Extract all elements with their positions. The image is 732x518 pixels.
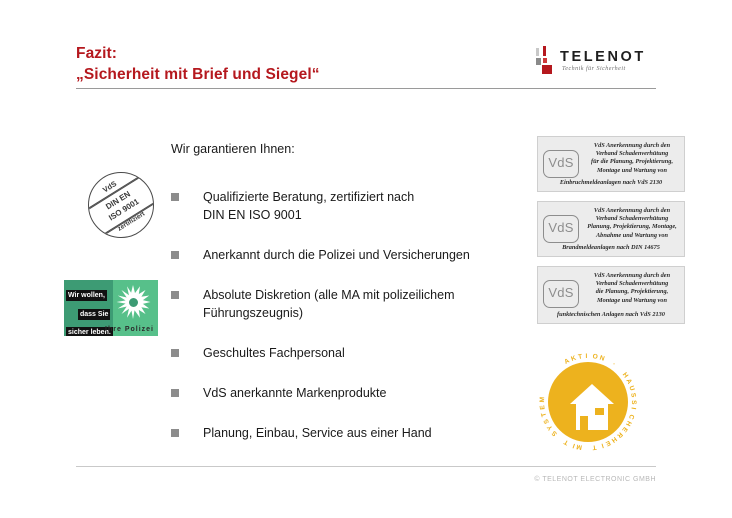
list-item-line-1: Anerkannt durch die Polizei und Versiche… — [203, 248, 470, 262]
footer-divider — [76, 466, 656, 467]
polizei-caption: Ihre Polizei — [105, 326, 154, 333]
list-item-line-2: Führungszeugnis) — [203, 304, 541, 322]
polizei-slogan-line-1: Wir wollen, — [66, 290, 107, 301]
list-item: Planung, Einbau, Service aus einer Hand — [171, 424, 541, 442]
bullet-square-icon — [171, 429, 179, 437]
bullet-square-icon — [171, 193, 179, 201]
vds-badge-line-2: Verband Schadenverhütung — [584, 150, 680, 158]
polizei-star-icon — [116, 285, 150, 319]
vds-badge-line-2: Verband Schadenverhütung — [584, 215, 680, 223]
vds-logo-icon: VdS — [543, 280, 579, 308]
vds-badge-line-4: Abnahme und Wartung von — [584, 232, 680, 240]
vds-logo-icon: VdS — [543, 150, 579, 178]
intro-text: Wir garantieren Ihnen: — [171, 142, 295, 156]
telenot-logo-mark-icon — [534, 46, 556, 74]
vds-badge-line-5: Brandmeldeanlagen nach DIN 14675 — [538, 244, 684, 252]
vds-badge-line-3: für die Planung, Projektierung, — [584, 158, 680, 166]
vds-certification-badge: VdS VdS Anerkennung durch den Verband Sc… — [537, 266, 685, 324]
aktion-circular-text: AKTION·HAUSSICHERHEITMITSYSTEM — [536, 350, 640, 454]
bullet-square-icon — [171, 349, 179, 357]
aktion-haussicherheit-logo: AKTION·HAUSSICHERHEITMITSYSTEM — [536, 350, 640, 454]
list-item: Geschultes Fachpersonal — [171, 344, 541, 362]
list-item-line-1: VdS anerkannte Markenprodukte — [203, 386, 386, 400]
title-line-2: „Sicherheit mit Brief und Siegel“ — [76, 64, 496, 86]
list-item-line-2: DIN EN ISO 9001 — [203, 206, 541, 224]
list-item-line-1: Geschultes Fachpersonal — [203, 346, 345, 360]
polizei-logo: Wir wollen, dass Sie sicher leben. Ihre … — [64, 280, 158, 336]
list-item: VdS anerkannte Markenprodukte — [171, 384, 541, 402]
list-item: Absolute Diskretion (alle MA mit polizei… — [171, 286, 541, 322]
list-item: Anerkannt durch die Polizei und Versiche… — [171, 246, 541, 264]
vds-badge-line-4: Montage und Wartung von — [584, 297, 680, 305]
polizei-slogan-line-2: dass Sie — [78, 309, 110, 320]
guarantee-list: Qualifizierte Beratung, zertifiziert nac… — [171, 188, 541, 464]
telenot-tagline: Technik für Sicherheit — [562, 66, 626, 72]
bullet-square-icon — [171, 291, 179, 299]
vds-badge-line-1: VdS Anerkennung durch den — [584, 142, 680, 150]
vds-logo-icon: VdS — [543, 215, 579, 243]
telenot-logo: TELENOT Technik für Sicherheit — [534, 46, 664, 78]
vds-certification-badge: VdS VdS Anerkennung durch den Verband Sc… — [537, 136, 685, 192]
list-item-line-1: Absolute Diskretion (alle MA mit polizei… — [203, 288, 454, 302]
slide-canvas: Fazit: „Sicherheit mit Brief und Siegel“… — [0, 0, 732, 518]
vds-badge-line-5: funktechnischen Anlagen nach VdS 2130 — [538, 311, 684, 319]
vds-badge-line-5: Einbruchmeldeanlagen nach VdS 2130 — [538, 179, 684, 187]
vds-badge-line-3: die Planung, Projektierung, — [584, 288, 680, 296]
bullet-square-icon — [171, 389, 179, 397]
bullet-square-icon — [171, 251, 179, 259]
vds-badge-line-3: Planung, Projektierung, Montage, — [584, 223, 680, 231]
list-item-line-1: Planung, Einbau, Service aus einer Hand — [203, 426, 432, 440]
telenot-wordmark: TELENOT — [560, 49, 646, 65]
vds-badge-line-1: VdS Anerkennung durch den — [584, 207, 680, 215]
vds-badge-line-2: Verband Schadenverhütung — [584, 280, 680, 288]
vds-badge-line-1: VdS Anerkennung durch den — [584, 272, 680, 280]
vds-certification-badge: VdS VdS Anerkennung durch den Verband Sc… — [537, 201, 685, 257]
title-line-1: Fazit: — [76, 44, 496, 64]
page-title: Fazit: „Sicherheit mit Brief und Siegel“ — [76, 44, 496, 86]
header-divider — [76, 88, 656, 89]
iso-9001-stamp-icon: VdS DIN EN ISO 9001 zertifiziert — [88, 172, 154, 238]
list-item: Qualifizierte Beratung, zertifiziert nac… — [171, 188, 541, 224]
vds-badge-line-4: Montage und Wartung von — [584, 167, 680, 175]
copyright-notice: © TELENOT ELECTRONIC GMBH — [534, 476, 656, 483]
list-item-line-1: Qualifizierte Beratung, zertifiziert nac… — [203, 190, 414, 204]
